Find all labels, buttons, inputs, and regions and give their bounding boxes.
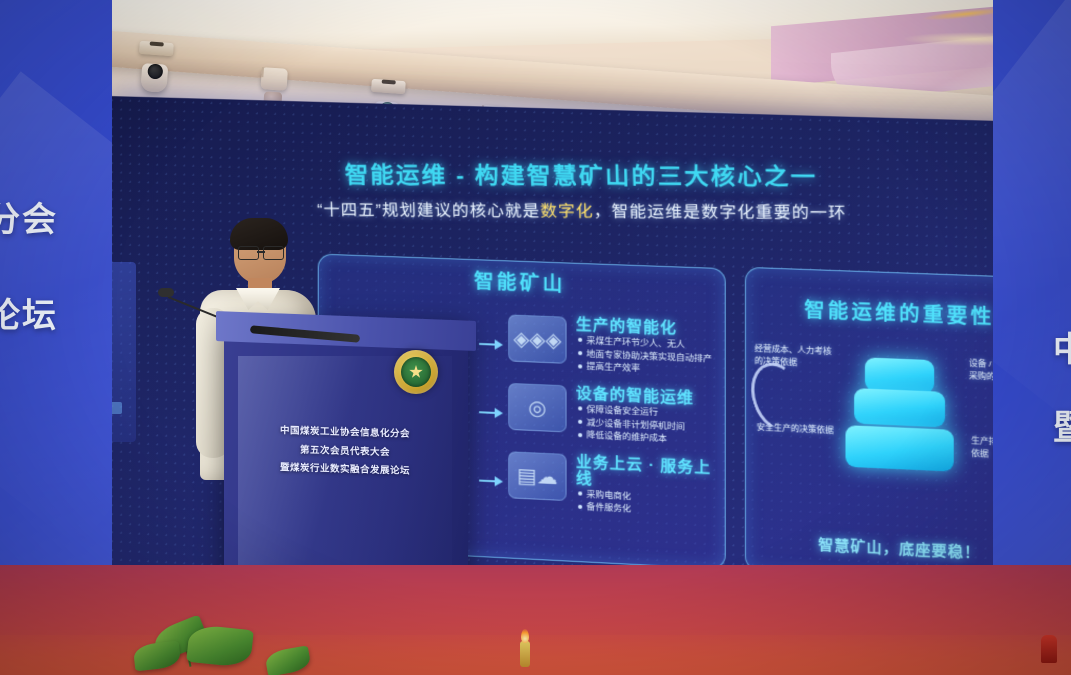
gear-radar-icon: ◎ [508,383,566,433]
banner-left-text: 分会 [0,192,58,241]
slide-subtitle-part1: “十四五”规划建议的核心就是 [317,202,541,221]
candle-flame-icon [521,629,529,643]
bullet-text: 备件服务化 [586,500,631,515]
banner-right-text: 中 [1053,322,1071,371]
layered-stack-icon [847,357,951,484]
slide-title: 智能运维 - 构建智慧矿山的三大核心之一 [108,155,1071,194]
bullet-text: 降低设备的维护成本 [586,428,667,445]
stage-scene: 智能运维 - 构建智慧矿山的三大核心之一 “十四五”规划建议的核心就是数字化，智… [0,0,1071,675]
slide-subtitle-part2: ，智能运维是数字化重要的一环 [593,204,846,223]
eyeglasses-icon [238,246,284,258]
slide-subtitle-highlight: 数字化 [540,203,594,221]
banner-highlight [993,0,1071,469]
podium-text: 中国煤炭工业协会信息化分会 第五次会员代表大会 暨煤炭行业数实融合发展论坛 [238,421,452,483]
red-object [1041,635,1057,663]
panel-left-heading: 智能矿山 [319,261,725,304]
list-item: ▤☁ 业务上云 · 服务上线 采购电商化 备件服务化 [479,450,718,520]
mine-network-icon: ◈◈◈ [508,314,566,363]
potted-plant [262,635,332,675]
banner-left-text: 论坛 [0,288,58,337]
arrow-icon [479,474,504,487]
banner-right-text: 暨 [1053,400,1071,449]
bullet-text: 提高生产效率 [586,360,640,375]
association-emblem [394,350,438,394]
potted-plant [120,605,270,675]
cloud-devices-icon: ▤☁ [508,451,566,501]
candle [520,641,530,667]
moving-head-light [136,39,174,93]
panel-left-rows: ◈◈◈ 生产的智能化 采煤生产环节少人、无人 地面专家协助决策实现自动排产 提高… [479,313,718,533]
list-item: ◈◈◈ 生产的智能化 采煤生产环节少人、无人 地面专家协助决策实现自动排产 提高… [479,313,718,378]
list-item: ◎ 设备的智能运维 保障设备安全运行 减少设备非计划停机时间 降低设备的维护成本 [479,382,718,448]
arrow-icon [479,406,504,419]
arrow-icon [479,338,504,351]
